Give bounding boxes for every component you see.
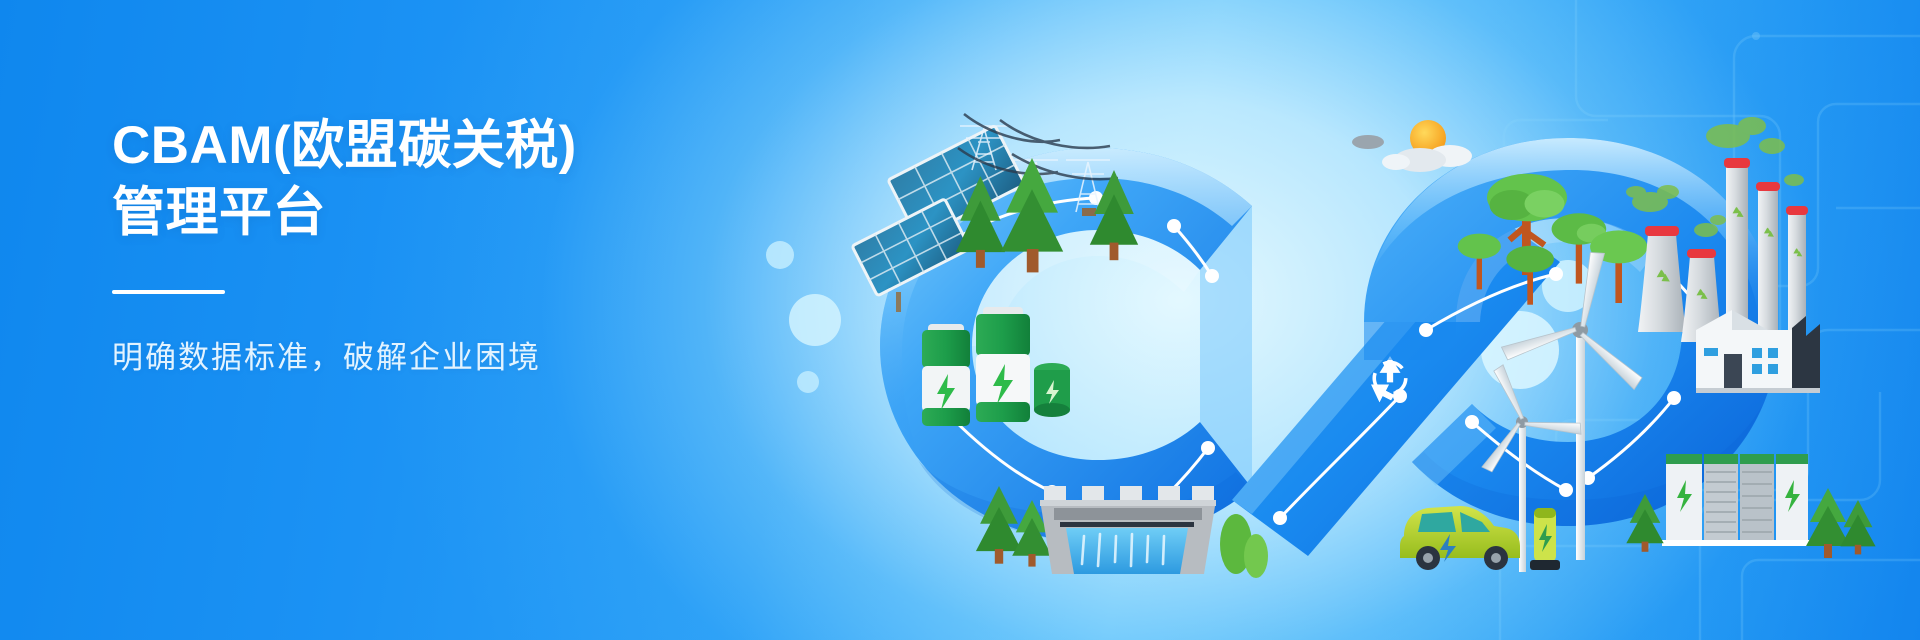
pine-tree-icon xyxy=(1840,500,1875,554)
hero-illustration xyxy=(760,30,1920,630)
page-subtitle: 明确数据标准，破解企业困境 xyxy=(112,338,812,378)
page-title: CBAM(欧盟碳关税) 管理平台 xyxy=(112,112,812,247)
page-title-line-1: CBAM(欧盟碳关税) xyxy=(112,112,812,179)
charging-station-icon xyxy=(1530,508,1560,570)
hero-copy: CBAM(欧盟碳关税) 管理平台 明确数据标准，破解企业困境 xyxy=(112,112,812,378)
pine-tree-icon xyxy=(1806,488,1850,558)
sun-cloud-icon xyxy=(1352,120,1472,172)
battery-storage-icon xyxy=(922,307,1070,426)
electric-car-icon xyxy=(1400,506,1560,570)
page-title-line-2: 管理平台 xyxy=(112,179,812,246)
carbon-neutral-infinity-loop xyxy=(760,30,1920,630)
smoke-cloud xyxy=(1706,117,1804,186)
divider-rule xyxy=(112,290,225,294)
hero-banner: CBAM(欧盟碳关税) 管理平台 明确数据标准，破解企业困境 xyxy=(0,0,1920,640)
